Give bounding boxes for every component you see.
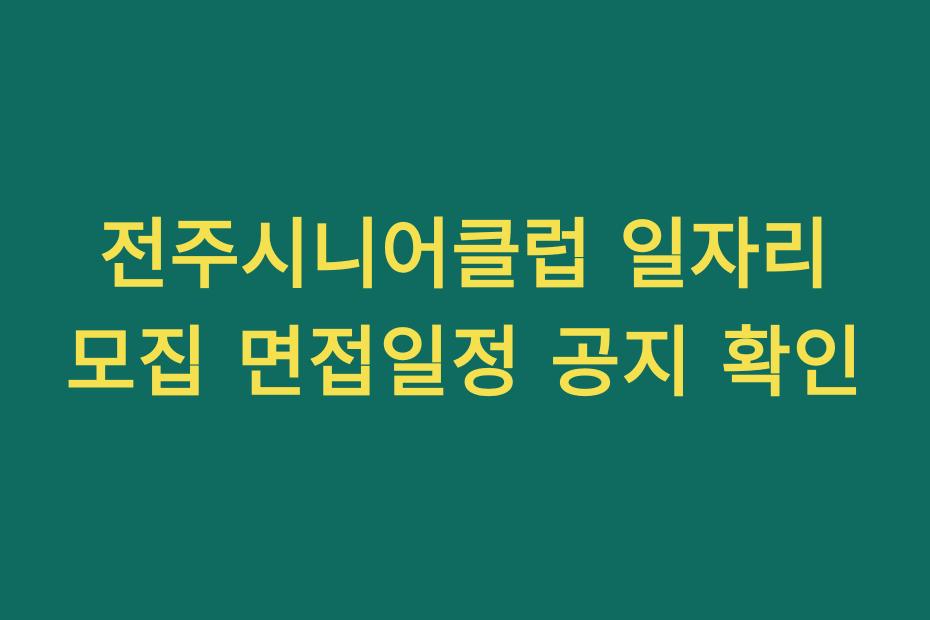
headline-block: 전주시니어클럽 일자리 모집 면접일정 공지 확인 — [0, 201, 930, 417]
title-card: 전주시니어클럽 일자리 모집 면접일정 공지 확인 — [0, 0, 930, 620]
headline-line-2: 모집 면접일정 공지 확인 — [0, 309, 930, 417]
headline-line-1: 전주시니어클럽 일자리 — [0, 201, 930, 309]
